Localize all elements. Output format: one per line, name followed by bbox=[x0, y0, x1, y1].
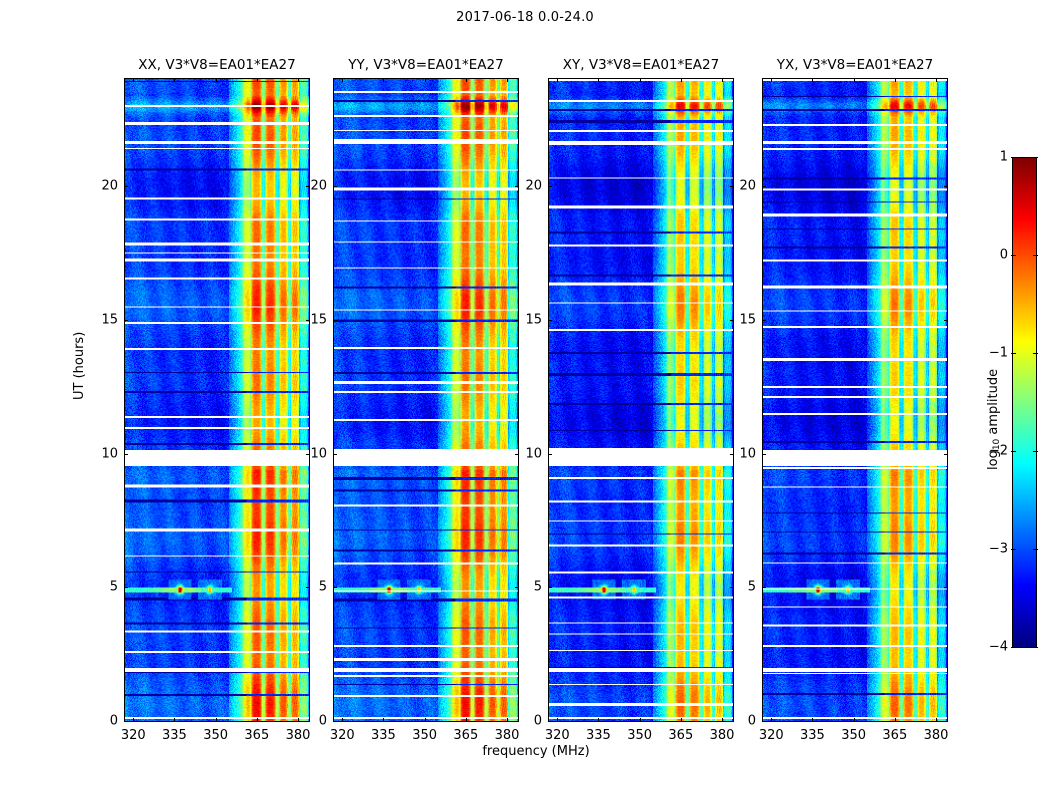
panel-xx[interactable]: XX, V3*V8=EA01*EA27 bbox=[124, 78, 310, 722]
x-tick bbox=[507, 78, 508, 82]
y-tick bbox=[548, 454, 552, 455]
x-tick bbox=[425, 78, 426, 82]
x-tick bbox=[895, 78, 896, 82]
x-tick bbox=[216, 718, 217, 722]
colorbar-label: log10 amplitude bbox=[986, 369, 1002, 470]
y-tick bbox=[333, 587, 337, 588]
x-tick-label: 320 bbox=[121, 728, 146, 743]
x-tick bbox=[557, 78, 558, 82]
colorbar-tick-label: 0 bbox=[978, 248, 1008, 263]
x-tick-label: 380 bbox=[286, 728, 311, 743]
figure-suptitle: 2017-06-18 0.0-24.0 bbox=[0, 10, 1050, 25]
panel-yy[interactable]: YY, V3*V8=EA01*EA27 bbox=[333, 78, 519, 722]
x-tick-label: 350 bbox=[203, 728, 228, 743]
x-tick bbox=[598, 78, 599, 82]
colorbar-tick bbox=[1011, 255, 1016, 256]
x-tick bbox=[342, 78, 343, 82]
x-tick-label: 350 bbox=[412, 728, 437, 743]
x-tick-label: 380 bbox=[710, 728, 735, 743]
x-tick-label: 365 bbox=[453, 728, 478, 743]
x-tick bbox=[771, 78, 772, 82]
x-tick bbox=[257, 718, 258, 722]
y-tick bbox=[944, 454, 948, 455]
y-tick-label: 5 bbox=[512, 580, 542, 595]
y-tick bbox=[944, 320, 948, 321]
x-tick-label: 365 bbox=[244, 728, 269, 743]
x-tick bbox=[681, 718, 682, 722]
colorbar-tick-label: −1 bbox=[978, 346, 1008, 361]
x-tick bbox=[174, 78, 175, 82]
x-tick-label: 380 bbox=[495, 728, 520, 743]
x-tick-label: 320 bbox=[545, 728, 570, 743]
x-tick bbox=[598, 718, 599, 722]
y-tick bbox=[548, 320, 552, 321]
panel-title-yy: YY, V3*V8=EA01*EA27 bbox=[333, 57, 519, 73]
colorbar-tick bbox=[1033, 549, 1038, 550]
y-tick bbox=[548, 186, 552, 187]
y-tick-label: 20 bbox=[88, 179, 118, 194]
y-tick-label: 20 bbox=[512, 179, 542, 194]
y-tick-label: 0 bbox=[512, 714, 542, 729]
colorbar-label-main: log bbox=[986, 450, 1001, 470]
y-tick-label: 5 bbox=[726, 580, 756, 595]
y-tick bbox=[548, 587, 552, 588]
y-tick bbox=[333, 186, 337, 187]
x-tick bbox=[466, 78, 467, 82]
y-tick bbox=[333, 320, 337, 321]
y-tick bbox=[944, 186, 948, 187]
y-tick-label: 0 bbox=[297, 714, 327, 729]
colorbar-label-subscript: 10 bbox=[992, 439, 1002, 450]
x-tick bbox=[507, 718, 508, 722]
x-tick-label: 335 bbox=[586, 728, 611, 743]
x-tick bbox=[466, 718, 467, 722]
panel-title-yx: YX, V3*V8=EA01*EA27 bbox=[762, 57, 948, 73]
panel-title-xy: XY, V3*V8=EA01*EA27 bbox=[548, 57, 734, 73]
panel-yx[interactable]: YX, V3*V8=EA01*EA27 bbox=[762, 78, 948, 722]
x-tick-label: 365 bbox=[668, 728, 693, 743]
colorbar-tick bbox=[1033, 451, 1038, 452]
x-tick-label: 335 bbox=[800, 728, 825, 743]
y-tick-label: 0 bbox=[88, 714, 118, 729]
figure-canvas: 2017-06-18 0.0-24.0 XX, V3*V8=EA01*EA27 … bbox=[0, 0, 1050, 800]
y-tick bbox=[124, 186, 128, 187]
x-tick-label: 350 bbox=[841, 728, 866, 743]
x-tick bbox=[425, 718, 426, 722]
colorbar-gradient bbox=[1012, 157, 1037, 648]
y-tick bbox=[124, 587, 128, 588]
colorbar-tick bbox=[1011, 353, 1016, 354]
x-tick-label: 335 bbox=[162, 728, 187, 743]
colorbar-tick-label: 1 bbox=[978, 150, 1008, 165]
x-tick bbox=[298, 78, 299, 82]
y-tick-label: 10 bbox=[512, 446, 542, 461]
spectrogram-xx bbox=[125, 79, 309, 721]
spectrogram-xy bbox=[549, 79, 733, 721]
y-tick bbox=[124, 320, 128, 321]
colorbar-tick bbox=[1011, 647, 1016, 648]
spectrogram-yy bbox=[334, 79, 518, 721]
colorbar-tick-label: −3 bbox=[978, 542, 1008, 557]
x-tick-label: 350 bbox=[627, 728, 652, 743]
y-tick bbox=[762, 454, 766, 455]
x-tick bbox=[936, 718, 937, 722]
y-tick-label: 15 bbox=[88, 312, 118, 327]
colorbar-tick-label: −4 bbox=[978, 640, 1008, 655]
x-tick bbox=[812, 718, 813, 722]
colorbar-tick bbox=[1033, 157, 1038, 158]
spectrogram-yx bbox=[763, 79, 947, 721]
x-tick bbox=[640, 718, 641, 722]
y-tick bbox=[944, 721, 948, 722]
y-tick bbox=[333, 454, 337, 455]
y-tick-label: 15 bbox=[297, 312, 327, 327]
colorbar-tick bbox=[1011, 157, 1016, 158]
axes-xx[interactable] bbox=[124, 78, 310, 722]
x-tick bbox=[557, 718, 558, 722]
y-tick-label: 15 bbox=[726, 312, 756, 327]
colorbar-tick bbox=[1011, 549, 1016, 550]
colorbar-tick bbox=[1033, 647, 1038, 648]
y-tick-label: 20 bbox=[297, 179, 327, 194]
colorbar-tick bbox=[1011, 451, 1016, 452]
x-tick bbox=[722, 78, 723, 82]
colorbar[interactable]: 10−1−2−3−4 bbox=[1012, 157, 1037, 648]
x-tick-label: 335 bbox=[371, 728, 396, 743]
x-axis-label: frequency (MHz) bbox=[124, 744, 948, 759]
x-tick bbox=[936, 78, 937, 82]
y-tick bbox=[762, 186, 766, 187]
x-tick bbox=[133, 718, 134, 722]
y-tick-label: 10 bbox=[297, 446, 327, 461]
x-tick bbox=[854, 78, 855, 82]
y-tick bbox=[762, 721, 766, 722]
y-tick-label: 15 bbox=[512, 312, 542, 327]
y-tick-label: 10 bbox=[88, 446, 118, 461]
y-tick bbox=[333, 721, 337, 722]
x-tick-label: 320 bbox=[759, 728, 784, 743]
y-tick bbox=[548, 721, 552, 722]
x-tick bbox=[895, 718, 896, 722]
panel-xy[interactable]: XY, V3*V8=EA01*EA27 bbox=[548, 78, 734, 722]
y-tick bbox=[124, 454, 128, 455]
x-tick-label: 320 bbox=[330, 728, 355, 743]
panel-title-xx: XX, V3*V8=EA01*EA27 bbox=[124, 57, 310, 73]
x-tick bbox=[854, 718, 855, 722]
x-tick bbox=[174, 718, 175, 722]
x-tick bbox=[342, 718, 343, 722]
y-tick bbox=[762, 587, 766, 588]
axes-yy[interactable] bbox=[333, 78, 519, 722]
colorbar-label-tail: amplitude bbox=[986, 369, 1001, 439]
y-tick-label: 5 bbox=[88, 580, 118, 595]
x-tick-label: 365 bbox=[882, 728, 907, 743]
y-tick bbox=[762, 320, 766, 321]
x-tick bbox=[771, 718, 772, 722]
y-tick-label: 5 bbox=[297, 580, 327, 595]
x-tick bbox=[640, 78, 641, 82]
y-tick bbox=[944, 587, 948, 588]
y-tick-label: 0 bbox=[726, 714, 756, 729]
x-tick bbox=[133, 78, 134, 82]
x-tick bbox=[216, 78, 217, 82]
x-tick bbox=[812, 78, 813, 82]
axes-yx[interactable] bbox=[762, 78, 948, 722]
y-tick-label: 10 bbox=[726, 446, 756, 461]
colorbar-tick bbox=[1033, 255, 1038, 256]
x-tick bbox=[383, 78, 384, 82]
y-tick bbox=[124, 721, 128, 722]
x-tick bbox=[257, 78, 258, 82]
axes-xy[interactable] bbox=[548, 78, 734, 722]
y-axis-label: UT (hours) bbox=[72, 332, 87, 400]
x-tick bbox=[722, 718, 723, 722]
colorbar-tick bbox=[1033, 353, 1038, 354]
y-tick-label: 20 bbox=[726, 179, 756, 194]
x-tick bbox=[681, 78, 682, 82]
x-tick-label: 380 bbox=[924, 728, 949, 743]
x-tick bbox=[383, 718, 384, 722]
